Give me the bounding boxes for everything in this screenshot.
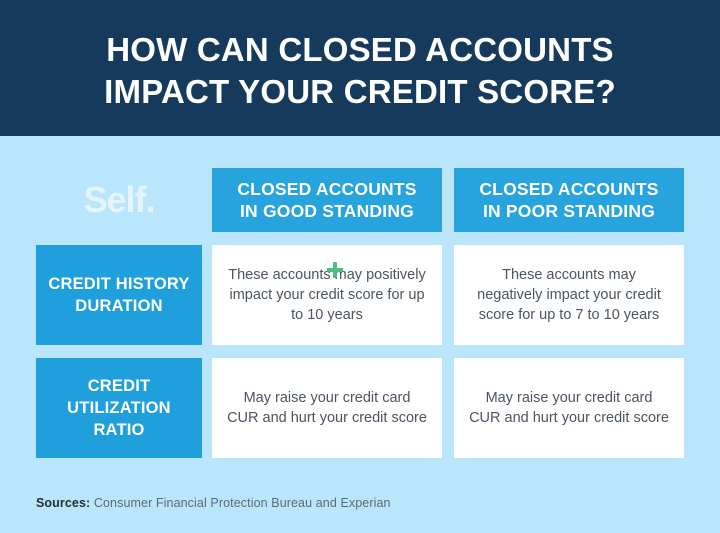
cell-utilization-good-standing-text: May raise your credit card CUR and hurt … xyxy=(226,389,428,428)
table-header-row: Self. CLOSED ACCOUNTSIN GOOD STANDING CL… xyxy=(36,168,684,232)
cell-history-good-standing: These accounts may positively impact you… xyxy=(212,245,442,345)
brand-name: Self xyxy=(83,182,145,218)
column-header-good-standing: CLOSED ACCOUNTSIN GOOD STANDING xyxy=(212,168,442,232)
table-row: CREDIT UTILIZATION RATIO May raise your … xyxy=(36,358,684,458)
cell-utilization-poor-standing-text: May raise your credit card CUR and hurt … xyxy=(468,389,670,428)
cell-history-good-standing-text: These accounts may positively impact you… xyxy=(226,266,428,325)
row-label-credit-history-duration: CREDIT HISTORY DURATION xyxy=(36,245,202,345)
cell-utilization-good-standing: May raise your credit card CUR and hurt … xyxy=(212,358,442,458)
row-label-credit-utilization-ratio: CREDIT UTILIZATION RATIO xyxy=(36,358,202,458)
column-header-good-standing-line-1: CLOSED ACCOUNTS xyxy=(237,179,416,199)
column-header-poor-standing-line-2: IN POOR STANDING xyxy=(483,201,655,221)
page-title-line-2: IMPACT YOUR CREDIT SCORE? xyxy=(104,71,616,113)
row-label-credit-utilization-ratio-text: CREDIT UTILIZATION RATIO xyxy=(42,375,196,441)
column-header-poor-standing-label: CLOSED ACCOUNTSIN POOR STANDING xyxy=(479,178,658,222)
sources-text: Consumer Financial Protection Bureau and… xyxy=(90,496,390,510)
column-header-good-standing-label: CLOSED ACCOUNTSIN GOOD STANDING xyxy=(237,178,416,222)
infographic-root: HOW CAN CLOSED ACCOUNTS IMPACT YOUR CRED… xyxy=(0,0,720,533)
cell-utilization-poor-standing: May raise your credit card CUR and hurt … xyxy=(454,358,684,458)
sources-label: Sources: xyxy=(36,496,90,510)
row-label-credit-history-duration-text: CREDIT HISTORY DURATION xyxy=(42,273,196,317)
column-header-good-standing-line-2: IN GOOD STANDING xyxy=(240,201,414,221)
sources-footer: Sources: Consumer Financial Protection B… xyxy=(36,496,391,510)
page-title-line-1: HOW CAN CLOSED ACCOUNTS xyxy=(106,29,614,71)
comparison-table: Self. CLOSED ACCOUNTSIN GOOD STANDING CL… xyxy=(36,168,684,458)
column-header-poor-standing: CLOSED ACCOUNTSIN POOR STANDING xyxy=(454,168,684,232)
cell-history-poor-standing: These accounts may negatively impact you… xyxy=(454,245,684,345)
column-header-poor-standing-line-1: CLOSED ACCOUNTS xyxy=(479,179,658,199)
table-row: CREDIT HISTORY DURATION These accounts m… xyxy=(36,245,684,345)
cell-history-poor-standing-text: These accounts may negatively impact you… xyxy=(468,266,670,325)
title-banner: HOW CAN CLOSED ACCOUNTS IMPACT YOUR CRED… xyxy=(0,0,720,136)
brand-dot: . xyxy=(146,182,155,218)
brand-logo: Self. xyxy=(36,168,202,232)
